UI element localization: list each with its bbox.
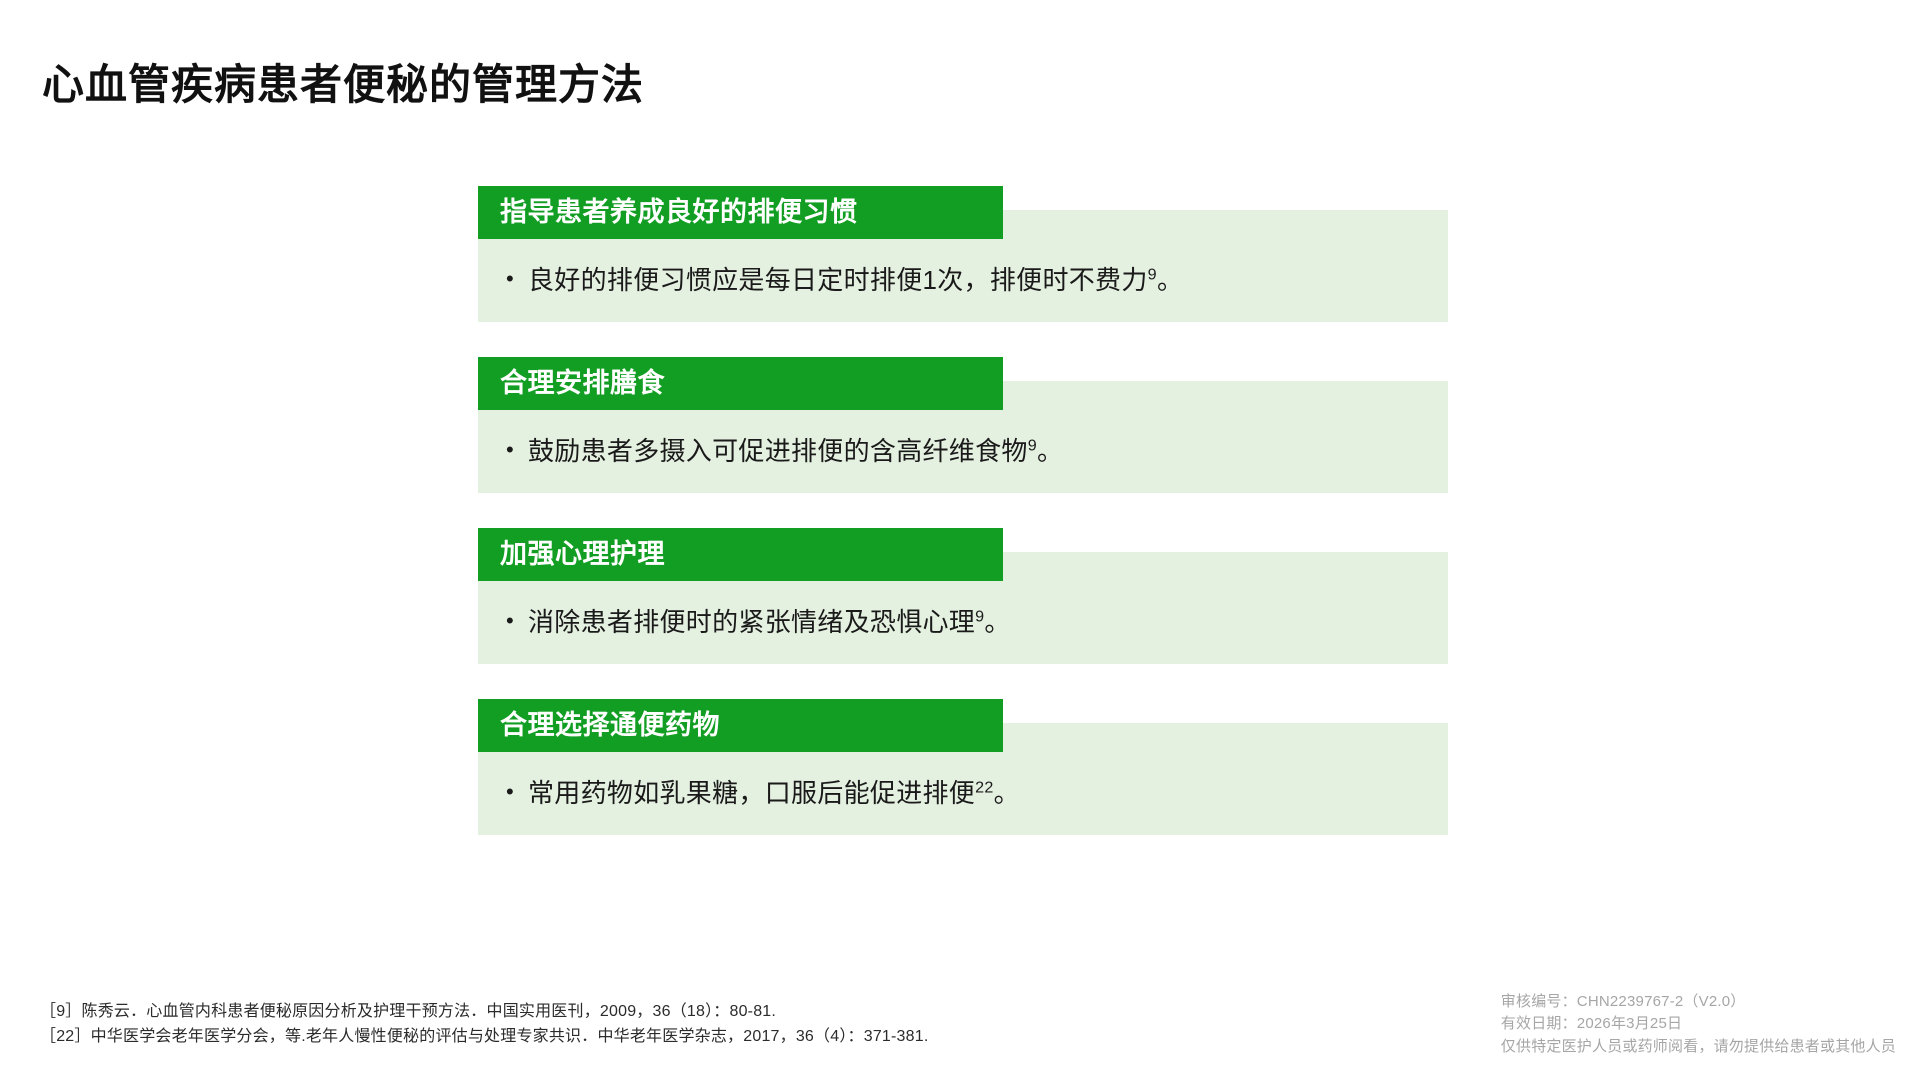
bullet-dot-icon: •	[506, 439, 528, 461]
bullet-reference-superscript: 9	[975, 607, 984, 625]
audience-disclaimer: 仅供特定医护人员或药师阅看，请勿提供给患者或其他人员	[1501, 1036, 1896, 1059]
bullet-reference-superscript: 9	[1148, 265, 1157, 283]
bullet-text-main: 良好的排便习惯应是每日定时排便1次，排便时不费力	[528, 265, 1148, 295]
block-header-label: 指导患者养成良好的排便习惯	[500, 199, 858, 226]
reference-list: ［9］陈秀云．心血管内科患者便秘原因分析及护理干预方法．中国实用医刊，2009，…	[40, 1000, 929, 1050]
bullet-text-tail: 。	[994, 778, 1020, 808]
block-header-bar: 合理安排膳食	[478, 357, 1003, 410]
legal-footer: 审核编号：CHN2239767-2（V2.0） 有效日期：2026年3月25日 …	[1501, 991, 1896, 1059]
bullet-dot-icon: •	[506, 781, 528, 803]
bullet-reference-superscript: 9	[1028, 436, 1037, 454]
bullet-text: 常用药物如乳果糖，口服后能促进排便22。	[528, 776, 1020, 811]
reference-item: ［9］陈秀云．心血管内科患者便秘原因分析及护理干预方法．中国实用医刊，2009，…	[40, 1000, 929, 1025]
bullet-text-main: 消除患者排便时的紧张情绪及恐惧心理	[528, 607, 975, 637]
bullet-dot-icon: •	[506, 268, 528, 290]
block-header-label: 合理安排膳食	[500, 370, 665, 397]
bullet-text: 鼓励患者多摄入可促进排便的含高纤维食物9。	[528, 434, 1063, 469]
slide-canvas: 心血管疾病患者便秘的管理方法 指导患者养成良好的排便习惯 • 良好的排便习惯应是…	[0, 0, 1920, 1080]
management-block: 合理安排膳食 • 鼓励患者多摄入可促进排便的含高纤维食物9。	[478, 357, 1448, 493]
approval-number: 审核编号：CHN2239767-2（V2.0）	[1501, 991, 1896, 1014]
block-body: • 鼓励患者多摄入可促进排便的含高纤维食物9。	[478, 410, 1448, 493]
bullet-text: 良好的排便习惯应是每日定时排便1次，排便时不费力9。	[528, 263, 1183, 298]
bullet-text-tail: 。	[984, 607, 1010, 637]
block-body: • 消除患者排便时的紧张情绪及恐惧心理9。	[478, 581, 1448, 664]
management-block: 合理选择通便药物 • 常用药物如乳果糖，口服后能促进排便22。	[478, 699, 1448, 835]
block-header-bar: 加强心理护理	[478, 528, 1003, 581]
block-header-bar: 合理选择通便药物	[478, 699, 1003, 752]
bullet-text-main: 鼓励患者多摄入可促进排便的含高纤维食物	[528, 436, 1028, 466]
block-header-label: 合理选择通便药物	[500, 712, 720, 739]
block-body: • 良好的排便习惯应是每日定时排便1次，排便时不费力9。	[478, 239, 1448, 322]
bullet-reference-superscript: 22	[975, 778, 994, 796]
valid-date: 有效日期：2026年3月25日	[1501, 1013, 1896, 1036]
management-block: 指导患者养成良好的排便习惯 • 良好的排便习惯应是每日定时排便1次，排便时不费力…	[478, 186, 1448, 322]
block-body: • 常用药物如乳果糖，口服后能促进排便22。	[478, 752, 1448, 835]
bullet-dot-icon: •	[506, 610, 528, 632]
bullet-text: 消除患者排便时的紧张情绪及恐惧心理9。	[528, 605, 1011, 640]
block-header-bar: 指导患者养成良好的排便习惯	[478, 186, 1003, 239]
bullet-text-tail: 。	[1037, 436, 1063, 466]
content-stack: 指导患者养成良好的排便习惯 • 良好的排便习惯应是每日定时排便1次，排便时不费力…	[478, 186, 1448, 835]
bullet-text-tail: 。	[1157, 265, 1183, 295]
reference-item: ［22］中华医学会老年医学分会，等.老年人慢性便秘的评估与处理专家共识．中华老年…	[40, 1025, 929, 1050]
management-block: 加强心理护理 • 消除患者排便时的紧张情绪及恐惧心理9。	[478, 528, 1448, 664]
bullet-text-main: 常用药物如乳果糖，口服后能促进排便	[528, 778, 975, 808]
block-header-label: 加强心理护理	[500, 541, 665, 568]
page-title: 心血管疾病患者便秘的管理方法	[42, 60, 644, 110]
